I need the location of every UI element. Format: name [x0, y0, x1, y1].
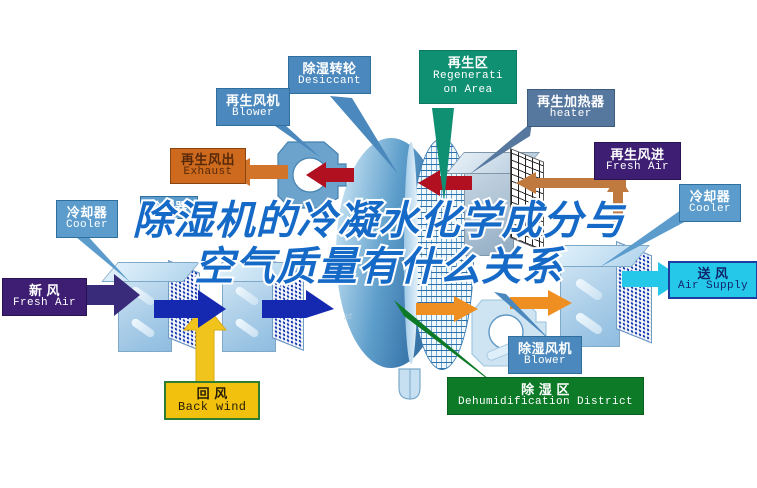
- label-dehumidify-blower[interactable]: 除湿风机 Blower: [508, 336, 582, 374]
- label-regeneration-blower-cn: 再生风机: [226, 94, 280, 108]
- process-arrow-2: [262, 290, 334, 328]
- label-back-wind-cn: 回 风: [178, 387, 246, 401]
- label-dehumidification-district-cn: 除 湿 区: [458, 383, 633, 397]
- label-fresh-air-intake-en: Fresh Air: [13, 298, 76, 310]
- label-regeneration-heater-cn: 再生加热器: [537, 95, 605, 109]
- label-regeneration-intake-cn: 再生风进: [606, 148, 669, 162]
- label-regeneration-heater-en: heater: [537, 109, 605, 121]
- page-title-line-1: 除湿机的冷凝水化学成分与: [0, 198, 757, 244]
- label-regeneration-heater[interactable]: 再生加热器 heater: [527, 89, 615, 127]
- heater-callout-tail: [470, 122, 532, 176]
- label-regeneration-blower[interactable]: 再生风机 Blower: [216, 88, 290, 126]
- label-dehumidification-district[interactable]: 除 湿 区 Dehumidification District: [447, 377, 644, 415]
- regen-area-callout-tail: [424, 108, 464, 204]
- desiccant-callout-tail: [330, 96, 400, 176]
- label-regeneration-intake[interactable]: 再生风进 Fresh Air: [594, 142, 681, 180]
- label-desiccant-rotor[interactable]: 除湿转轮 Desiccant: [288, 56, 371, 94]
- label-dehumidify-blower-en: Blower: [518, 356, 572, 368]
- label-back-wind[interactable]: 回 风 Back wind: [164, 381, 260, 420]
- label-regeneration-exhaust-cn: 再生风出: [181, 153, 235, 167]
- label-desiccant-rotor-cn: 除湿转轮: [298, 62, 361, 76]
- label-regeneration-blower-en: Blower: [226, 108, 280, 120]
- label-regeneration-intake-en: Fresh Air: [606, 162, 669, 174]
- label-dehumidify-blower-cn: 除湿风机: [518, 342, 572, 356]
- label-regeneration-area-en: Regenerati on Area: [428, 70, 508, 98]
- label-back-wind-en: Back wind: [178, 401, 246, 414]
- page-title: 除湿机的冷凝水化学成分与 空气质量有什么关系: [0, 198, 757, 290]
- process-arrow-1: [154, 290, 226, 328]
- label-regeneration-area[interactable]: 再生区 Regenerati on Area: [419, 50, 517, 104]
- label-regeneration-area-cn: 再生区: [428, 56, 508, 70]
- label-dehumidification-district-en: Dehumidification District: [458, 397, 633, 409]
- label-desiccant-rotor-en: Desiccant: [298, 76, 361, 88]
- label-regeneration-exhaust[interactable]: 再生风出 Exhaust: [170, 148, 246, 184]
- page-title-line-2: 空气质量有什么关系: [0, 244, 757, 290]
- label-regeneration-exhaust-en: Exhaust: [181, 167, 235, 179]
- dehumidifier-diagram-canvas: xt: [0, 0, 757, 488]
